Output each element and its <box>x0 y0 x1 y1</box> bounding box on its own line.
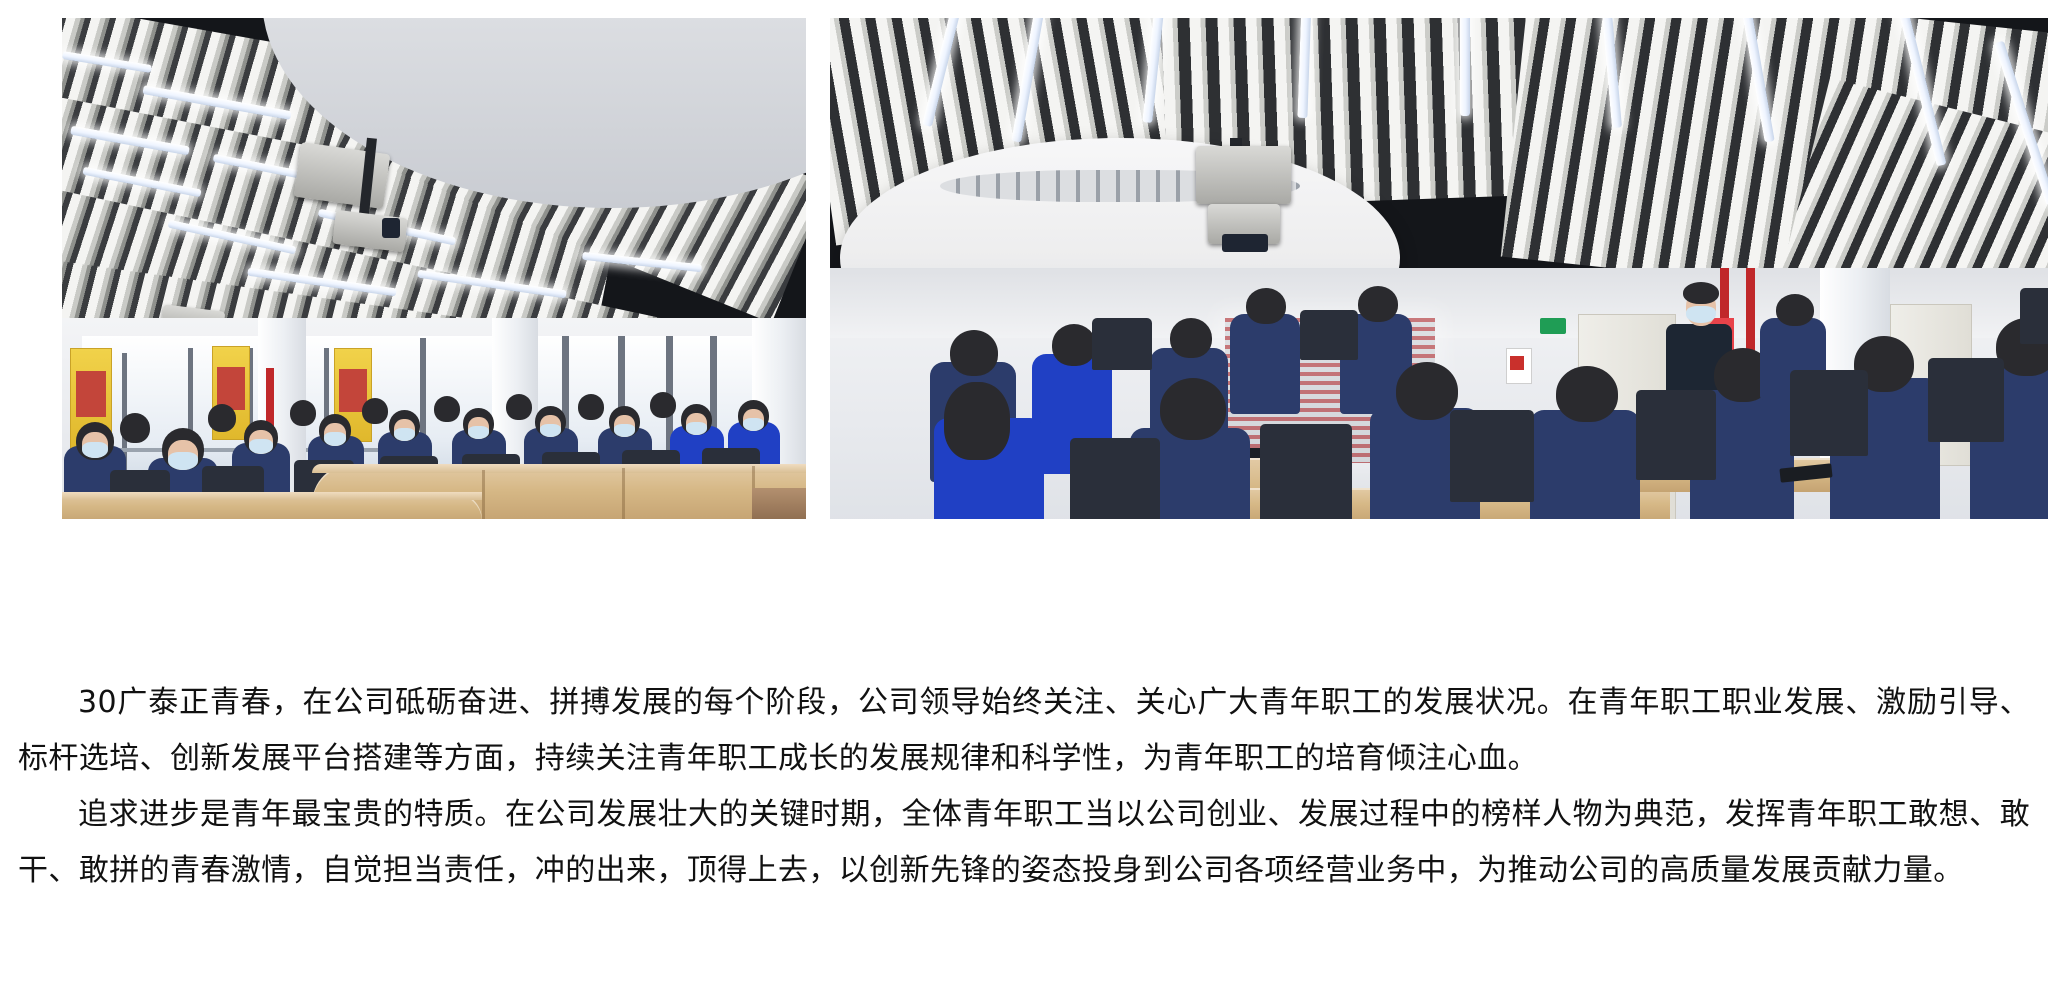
projector-lens-right <box>1222 234 1268 252</box>
face-mask <box>468 426 489 439</box>
wall-notice-red <box>1510 356 1524 370</box>
person-head-back <box>1358 286 1398 322</box>
chair-back <box>1790 370 1868 456</box>
projector-head-right <box>1196 146 1291 204</box>
person-head <box>650 392 676 418</box>
ceiling-light-tube <box>1460 18 1470 116</box>
face-mask <box>82 442 108 458</box>
chair-back <box>1092 318 1152 370</box>
person-head <box>434 396 460 422</box>
exit-sign <box>1540 318 1566 334</box>
seated-person-back <box>1230 314 1300 414</box>
desk-top-edge <box>312 464 806 473</box>
person-head-back <box>1556 366 1618 422</box>
projector-lens-left <box>382 218 400 238</box>
document-page: 30广泰正青春，在公司砥砺奋进、拼搏发展的每个阶段，公司领导始终关注、关心广大青… <box>0 0 2048 985</box>
person-head-back <box>950 330 998 376</box>
face-mask <box>686 422 707 435</box>
person-head <box>290 400 316 426</box>
photo-left-classroom <box>62 18 806 519</box>
face-mask <box>394 428 415 441</box>
photo-row <box>0 0 2048 505</box>
presenter-head <box>1683 282 1719 304</box>
poster-image <box>76 371 106 417</box>
person-head-back <box>1396 362 1458 420</box>
chair-back <box>1300 310 1358 360</box>
face-mask <box>324 432 346 446</box>
person-head <box>208 404 236 432</box>
face-mask <box>743 418 764 431</box>
desk-top-edge <box>62 492 482 500</box>
person-head-back <box>1170 318 1212 358</box>
chair-back <box>1450 410 1534 502</box>
person-head-back <box>1160 378 1226 440</box>
photo-left-content <box>62 18 806 519</box>
face-mask <box>540 424 561 437</box>
person-head <box>578 394 604 420</box>
chair-back <box>1928 358 2004 442</box>
face-mask <box>168 452 198 470</box>
chair-back <box>1636 390 1716 480</box>
person-head-back <box>1776 294 1814 326</box>
person-head-back <box>1246 288 1286 324</box>
person-head <box>120 413 150 443</box>
chair-back <box>2020 288 2048 344</box>
article-paragraph-1: 30广泰正青春，在公司砥砺奋进、拼搏发展的每个阶段，公司领导始终关注、关心广大青… <box>0 675 2048 787</box>
face-mask <box>249 439 273 454</box>
article-body: 30广泰正青春，在公司砥砺奋进、拼搏发展的每个阶段，公司领导始终关注、关心广大青… <box>0 505 2048 899</box>
photo-right-classroom <box>830 18 2048 519</box>
person-head <box>362 398 388 424</box>
seated-person-back <box>1530 410 1640 519</box>
article-paragraph-2: 追求进步是青年最宝贵的特质。在公司发展壮大的关键时期，全体青年职工当以公司创业、… <box>0 787 2048 899</box>
person-head <box>506 394 532 420</box>
photo-right-content <box>830 18 2048 519</box>
face-mask <box>614 424 635 437</box>
person-head-back <box>1052 324 1096 366</box>
presenter-face-mask <box>1686 306 1716 323</box>
person-head-ponytail <box>944 382 1010 460</box>
